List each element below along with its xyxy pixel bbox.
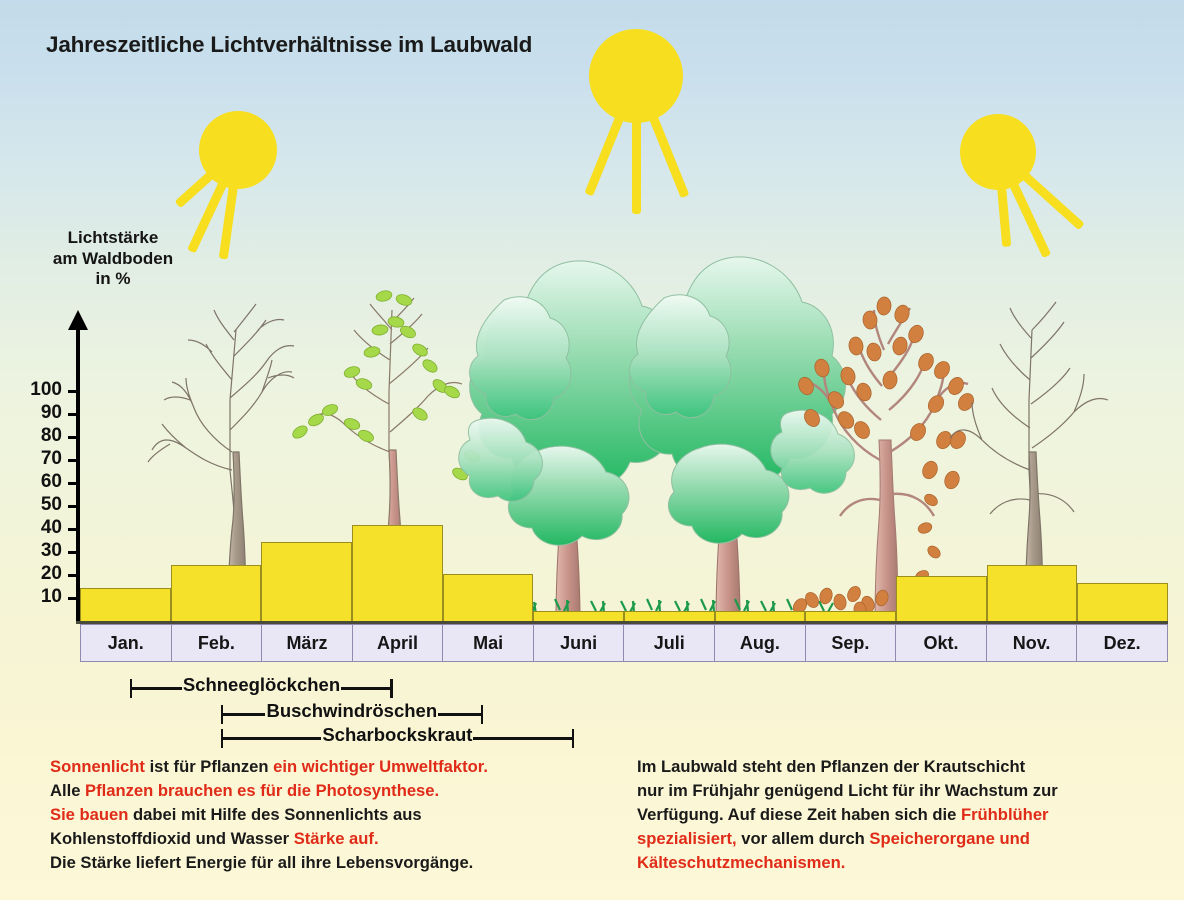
text-segment: Sie bauen (50, 805, 128, 824)
explanation-right-line-4: Kälteschutzmechanismen. (637, 851, 1157, 875)
y-tick-10 (68, 597, 80, 600)
y-tick-label-100: 100 (0, 379, 62, 401)
explanation-right-line-0: Im Laubwald steht den Pflanzen der Kraut… (637, 755, 1157, 779)
bar-feb (171, 565, 262, 623)
text-segment: Frühblüher (961, 805, 1049, 824)
y-tick-label-60: 60 (0, 471, 62, 493)
y-tick-20 (68, 574, 80, 577)
y-tick-30 (68, 551, 80, 554)
y-tick-label-80: 80 (0, 425, 62, 447)
y-tick-label-40: 40 (0, 517, 62, 539)
text-segment: dabei mit Hilfe des Sonnenlichts aus (128, 805, 421, 824)
y-axis-title-line2: am Waldboden (38, 249, 188, 270)
species-bracket-0: Schneeglöckchen (130, 674, 393, 700)
text-segment: Verfügung. Auf diese Zeit haben sich die (637, 805, 961, 824)
text-segment: spezialisiert, (637, 829, 737, 848)
species-name: Scharbockskraut (322, 724, 472, 746)
illustration-canvas: Jahreszeitliche Lichtverhältnisse im Lau… (0, 0, 1184, 900)
y-axis-title: Lichtstärke am Waldboden in % (38, 228, 188, 290)
month-cell-5[interactable]: Juni (534, 625, 625, 661)
text-segment: Kälteschutzmechanismen. (637, 853, 845, 872)
y-tick-label-30: 30 (0, 540, 62, 562)
explanation-left-line-1: Alle Pflanzen brauchen es für die Photos… (50, 779, 630, 803)
bar-dez (1077, 583, 1168, 622)
bracket-rule-right (341, 687, 392, 690)
month-cell-4[interactable]: Mai (443, 625, 534, 661)
y-tick-label-20: 20 (0, 563, 62, 585)
month-cell-6[interactable]: Juli (624, 625, 715, 661)
text-segment: Sonnenlicht (50, 757, 145, 776)
month-cell-0[interactable]: Jan. (81, 625, 172, 661)
species-name: Schneeglöckchen (183, 674, 340, 696)
explanation-right-line-3: spezialisiert, vor allem durch Speichero… (637, 827, 1157, 851)
species-bracket-2: Scharbockskraut (221, 724, 575, 750)
y-tick-90 (68, 413, 80, 416)
bracket-rule-left (222, 737, 322, 740)
month-cell-8[interactable]: Sep. (806, 625, 897, 661)
text-segment: Speicherorgane und (869, 829, 1029, 848)
month-cell-7[interactable]: Aug. (715, 625, 806, 661)
explanation-left-line-0: Sonnenlicht ist für Pflanzen ein wichtig… (50, 755, 630, 779)
y-axis-title-line3: in % (38, 269, 188, 290)
explanation-right-line-2: Verfügung. Auf diese Zeit haben sich die… (637, 803, 1157, 827)
month-axis: Jan.Feb.MärzAprilMaiJuniJuliAug.Sep.Okt.… (80, 624, 1168, 662)
explanation-right-line-1: nur im Frühjahr genügend Licht für ihr W… (637, 779, 1157, 803)
month-cell-9[interactable]: Okt. (896, 625, 987, 661)
bar-okt (896, 576, 987, 622)
bracket-rule-left (131, 687, 182, 690)
y-tick-80 (68, 436, 80, 439)
y-tick-100 (68, 390, 80, 393)
y-tick-60 (68, 482, 80, 485)
text-segment: Die Stärke liefert Energie für all ihre … (50, 853, 473, 872)
text-segment: Alle (50, 781, 85, 800)
text-segment: Stärke auf. (294, 829, 379, 848)
bar-april (352, 525, 443, 622)
explanation-left-line-2: Sie bauen dabei mit Hilfe des Sonnenlich… (50, 803, 630, 827)
y-tick-70 (68, 459, 80, 462)
text-segment: ist für Pflanzen (145, 757, 273, 776)
explanation-text-right: Im Laubwald steht den Pflanzen der Kraut… (637, 755, 1157, 875)
bracket-rule-right (473, 737, 573, 740)
y-tick-40 (68, 528, 80, 531)
text-segment: Pflanzen brauchen es für die Photosynthe… (85, 781, 439, 800)
text-segment: Kohlenstoffdioxid und Wasser (50, 829, 294, 848)
text-segment: ein wichtiger Umweltfaktor. (273, 757, 488, 776)
y-tick-label-50: 50 (0, 494, 62, 516)
species-name: Buschwindröschen (266, 700, 437, 722)
month-cell-2[interactable]: März (262, 625, 353, 661)
y-tick-50 (68, 505, 80, 508)
bar-nov (987, 565, 1078, 623)
explanation-left-line-3: Kohlenstoffdioxid und Wasser Stärke auf. (50, 827, 630, 851)
month-cell-3[interactable]: April (353, 625, 444, 661)
text-segment: nur im Frühjahr genügend Licht für ihr W… (637, 781, 1058, 800)
page-title: Jahreszeitliche Lichtverhältnisse im Lau… (46, 32, 532, 58)
month-cell-11[interactable]: Dez. (1077, 625, 1167, 661)
month-cell-10[interactable]: Nov. (987, 625, 1078, 661)
bracket-rule-right (438, 713, 482, 716)
y-axis-title-line1: Lichtstärke (38, 228, 188, 249)
explanation-left-line-4: Die Stärke liefert Energie für all ihre … (50, 851, 630, 875)
month-cell-1[interactable]: Feb. (172, 625, 263, 661)
bar-mai (443, 574, 534, 622)
species-bracket-1: Buschwindröschen (221, 700, 484, 726)
bar-chart-plot (80, 320, 1168, 622)
bar-jan (80, 588, 171, 623)
y-tick-label-90: 90 (0, 402, 62, 424)
y-tick-label-70: 70 (0, 448, 62, 470)
text-segment: Im Laubwald steht den Pflanzen der Kraut… (637, 757, 1025, 776)
explanation-text-left: Sonnenlicht ist für Pflanzen ein wichtig… (50, 755, 630, 875)
bracket-rule-left (222, 713, 266, 716)
bar-märz (261, 542, 352, 623)
text-segment: vor allem durch (737, 829, 870, 848)
y-tick-label-10: 10 (0, 586, 62, 608)
